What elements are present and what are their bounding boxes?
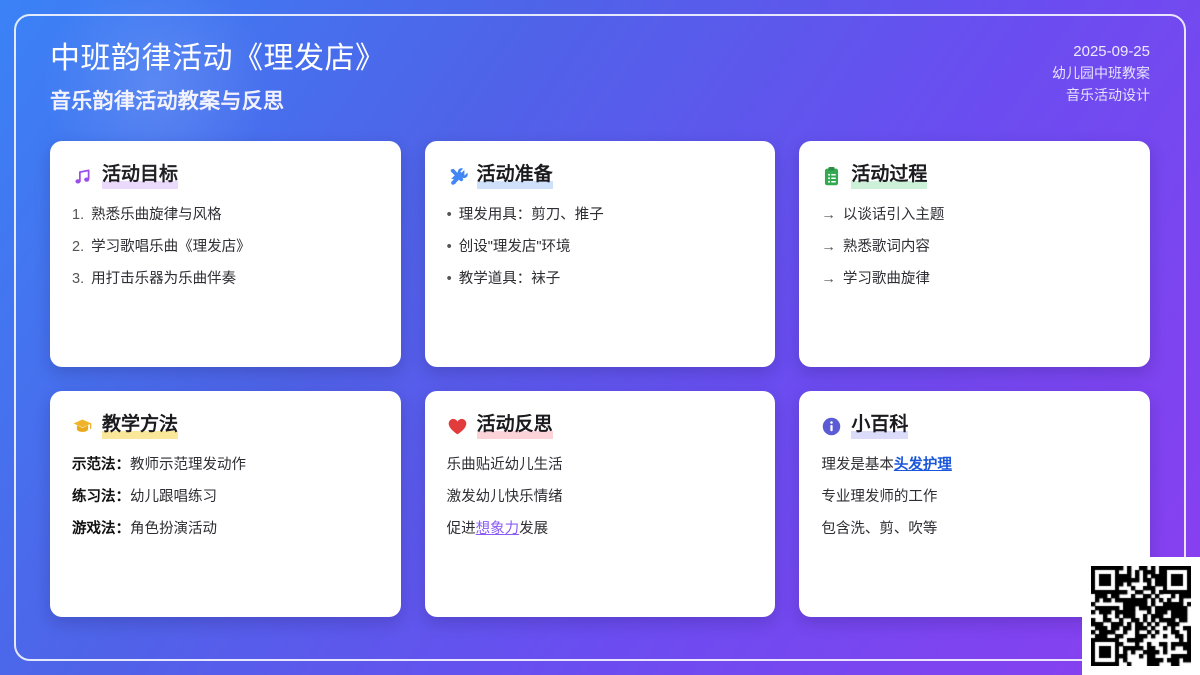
meta-line-2: 音乐活动设计 [1052,85,1150,107]
date-label: 2025-09-25 [1052,40,1150,63]
graduation-cap-icon [72,416,93,437]
qr-code-panel[interactable] [1082,557,1200,675]
list-marker: → [821,237,836,258]
list-text: 学习歌唱乐曲《理发店》 [91,237,251,258]
reflection-list: 乐曲贴近幼儿生活 激发幼儿快乐情绪 促进想象力发展 [447,455,754,540]
card-reflection[interactable]: 活动反思 乐曲贴近幼儿生活 激发幼儿快乐情绪 促进想象力发展 [425,391,776,617]
info-icon [821,416,842,437]
card-grid: 活动目标 1. 熟悉乐曲旋律与风格 2. 学习歌唱乐曲《理发店》 3. 用打击乐… [50,141,1150,617]
music-note-icon [72,166,93,187]
page-title: 中班韵律活动《理发店》 [50,40,386,78]
list-text: 教学道具：袜子 [459,269,561,290]
meta-line-1: 幼儿园中班教案 [1052,63,1150,85]
list-item: → 以谈话引入主题 [821,205,1128,226]
list-item: 专业理发师的工作 [821,487,1128,508]
card-title: 教学方法 [102,413,178,439]
preparation-list: • 理发用具：剪刀、推子 • 创设"理发店"环境 • 教学道具：袜子 [447,205,754,290]
list-marker: 2. [72,237,84,258]
list-marker: → [821,269,836,290]
list-item: • 创设"理发店"环境 [447,237,754,258]
list-item: → 学习歌曲旋律 [821,269,1128,290]
card-title: 活动准备 [477,163,553,189]
card-title: 活动反思 [477,413,553,439]
list-item: 促进想象力发展 [447,519,754,540]
text-prefix: 促进 [447,521,476,537]
header-title-block: 中班韵律活动《理发店》 音乐韵律活动教案与反思 [50,40,386,115]
list-text: 熟悉乐曲旋律与风格 [91,205,222,226]
method-text: 角色扮演活动 [130,521,217,537]
card-header: 活动准备 [447,163,754,189]
list-item: • 理发用具：剪刀、推子 [447,205,754,226]
text-prefix: 理发是基本 [821,457,894,473]
text-suffix: 发展 [519,521,548,537]
hair-care-link[interactable]: 头发护理 [894,457,952,473]
process-list: → 以谈话引入主题 → 熟悉歌词内容 → 学习歌曲旋律 [821,205,1128,290]
list-item: 2. 学习歌唱乐曲《理发店》 [72,237,379,258]
heart-icon [447,416,468,437]
methods-list: 示范法：教师示范理发动作 练习法：幼儿跟唱练习 游戏法：角色扮演活动 [72,455,379,540]
header-meta-block: 2025-09-25 幼儿园中班教案 音乐活动设计 [1052,40,1150,107]
list-text: 熟悉歌词内容 [843,237,930,258]
list-item: 包含洗、剪、吹等 [821,519,1128,540]
list-text: 理发用具：剪刀、推子 [459,205,604,226]
card-title: 活动目标 [102,163,178,189]
list-marker: 3. [72,269,84,290]
card-title: 活动过程 [851,163,927,189]
list-marker: 1. [72,205,84,226]
card-objectives[interactable]: 活动目标 1. 熟悉乐曲旋律与风格 2. 学习歌唱乐曲《理发店》 3. 用打击乐… [50,141,401,367]
card-header: 活动目标 [72,163,379,189]
slide-header: 中班韵律活动《理发店》 音乐韵律活动教案与反思 2025-09-25 幼儿园中班… [50,0,1150,115]
list-text: 以谈话引入主题 [843,205,945,226]
list-item: 练习法：幼儿跟唱练习 [72,487,379,508]
list-item: 激发幼儿快乐情绪 [447,487,754,508]
list-text: 创设"理发店"环境 [459,237,571,258]
list-text: 用打击乐器为乐曲伴奏 [91,269,236,290]
list-item: • 教学道具：袜子 [447,269,754,290]
list-marker: → [821,205,836,226]
list-marker: • [447,205,452,226]
list-item: → 熟悉歌词内容 [821,237,1128,258]
card-header: 活动过程 [821,163,1128,189]
card-process[interactable]: 活动过程 → 以谈话引入主题 → 熟悉歌词内容 → 学习歌曲旋律 [799,141,1150,367]
list-item: 1. 熟悉乐曲旋律与风格 [72,205,379,226]
card-header: 活动反思 [447,413,754,439]
card-preparation[interactable]: 活动准备 • 理发用具：剪刀、推子 • 创设"理发店"环境 • 教学道具：袜子 [425,141,776,367]
list-text: 学习歌曲旋律 [843,269,930,290]
list-item: 乐曲贴近幼儿生活 [447,455,754,476]
list-item: 3. 用打击乐器为乐曲伴奏 [72,269,379,290]
qr-code[interactable] [1091,566,1191,666]
method-term: 练习法： [72,489,130,505]
list-item: 示范法：教师示范理发动作 [72,455,379,476]
card-title: 小百科 [851,413,908,439]
clipboard-icon [821,166,842,187]
list-item: 游戏法：角色扮演活动 [72,519,379,540]
encyclopedia-list: 理发是基本头发护理 专业理发师的工作 包含洗、剪、吹等 [821,455,1128,540]
card-header: 教学方法 [72,413,379,439]
list-item: 理发是基本头发护理 [821,455,1128,476]
objectives-list: 1. 熟悉乐曲旋律与风格 2. 学习歌唱乐曲《理发店》 3. 用打击乐器为乐曲伴… [72,205,379,290]
tools-icon [447,166,468,187]
method-term: 示范法： [72,457,130,473]
list-marker: • [447,237,452,258]
card-methods[interactable]: 教学方法 示范法：教师示范理发动作 练习法：幼儿跟唱练习 游戏法：角色扮演活动 [50,391,401,617]
card-header: 小百科 [821,413,1128,439]
method-text: 幼儿跟唱练习 [130,489,217,505]
method-text: 教师示范理发动作 [130,457,246,473]
page-subtitle: 音乐韵律活动教案与反思 [50,85,386,115]
method-term: 游戏法： [72,521,130,537]
list-marker: • [447,269,452,290]
imagination-link[interactable]: 想象力 [476,521,520,537]
slide-canvas: 中班韵律活动《理发店》 音乐韵律活动教案与反思 2025-09-25 幼儿园中班… [0,0,1200,675]
